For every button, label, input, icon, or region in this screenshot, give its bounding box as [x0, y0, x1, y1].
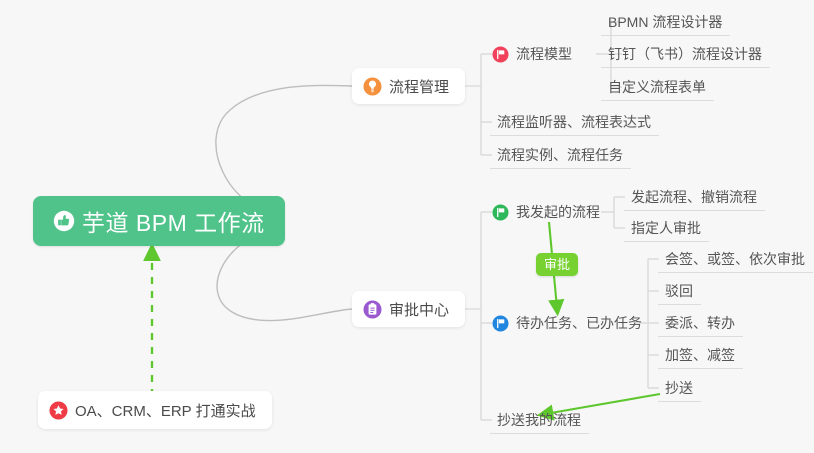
leaf-reject[interactable]: 驳回	[658, 279, 701, 305]
leaf-label-cc: 抄送	[665, 378, 693, 398]
flag-icon	[492, 46, 509, 63]
branch-node-process-management[interactable]: 流程管理	[352, 68, 465, 104]
leaf-label-assignee-approve: 指定人审批	[631, 218, 701, 238]
leaf-listener-expression[interactable]: 流程监听器、流程表达式	[490, 110, 659, 136]
thumbs-up-icon	[53, 210, 75, 232]
leaf-instance-task[interactable]: 流程实例、流程任务	[490, 143, 631, 169]
root-node-label: 芋道 BPM 工作流	[82, 204, 265, 238]
leaf-countersign[interactable]: 会签、或签、依次审批	[658, 247, 813, 273]
branch-node-approval-center[interactable]: 审批中心	[352, 291, 465, 327]
leaf-label-bpmn-designer: BPMN 流程设计器	[608, 12, 722, 32]
node-todo-done-tasks[interactable]: 待办任务、已办任务	[492, 310, 648, 336]
branch-label-process-management: 流程管理	[389, 76, 449, 97]
leaf-bpmn-designer[interactable]: BPMN 流程设计器	[601, 10, 730, 36]
node-flow-model[interactable]: 流程模型	[492, 41, 578, 67]
node-label-flow-model: 流程模型	[516, 44, 572, 64]
flag-icon	[492, 315, 509, 332]
branch-label-approval-center: 审批中心	[389, 299, 449, 320]
node-label-my-initiated-flow: 我发起的流程	[516, 202, 600, 222]
leaf-label-cc-my-flow: 抄送我的流程	[497, 410, 581, 430]
callout-node-integration[interactable]: OA、CRM、ERP 打通实战	[38, 391, 272, 429]
leaf-cc[interactable]: 抄送	[658, 376, 701, 402]
leaf-add-remove-sign[interactable]: 加签、减签	[658, 343, 743, 369]
leaf-assignee-approve[interactable]: 指定人审批	[624, 216, 709, 242]
leaf-label-custom-form: 自定义流程表单	[608, 77, 706, 97]
leaf-label-countersign: 会签、或签、依次审批	[665, 249, 805, 269]
node-my-initiated-flow[interactable]: 我发起的流程	[492, 199, 606, 225]
leaf-label-delegate-transfer: 委派、转办	[665, 313, 735, 333]
node-label-todo-done-tasks: 待办任务、已办任务	[516, 313, 642, 333]
root-node[interactable]: 芋道 BPM 工作流	[33, 196, 285, 246]
leaf-label-reject: 驳回	[665, 281, 693, 301]
leaf-dingtalk-designer[interactable]: 钉钉（飞书）流程设计器	[601, 42, 770, 68]
annotation-badge-approval-label: 审批	[544, 257, 570, 272]
edge-root-to-process-management	[216, 85, 352, 213]
leaf-label-add-remove-sign: 加签、减签	[665, 345, 735, 365]
leaf-custom-form[interactable]: 自定义流程表单	[601, 75, 714, 101]
mindmap-canvas: 芋道 BPM 工作流 流程管理 流程模型 BPMN 流程设计器 钉钉（飞书	[0, 0, 814, 453]
leaf-label-dingtalk-designer: 钉钉（飞书）流程设计器	[608, 44, 762, 64]
leaf-label-start-cancel-flow: 发起流程、撤销流程	[631, 187, 757, 207]
flag-icon	[492, 204, 509, 221]
lightbulb-icon	[363, 77, 382, 96]
callout-label-integration: OA、CRM、ERP 打通实战	[75, 400, 256, 421]
clipboard-icon	[363, 300, 382, 319]
leaf-start-cancel-flow[interactable]: 发起流程、撤销流程	[624, 185, 765, 211]
star-icon	[49, 401, 68, 420]
annotation-badge-approval: 审批	[536, 253, 578, 276]
leaf-cc-my-flow[interactable]: 抄送我的流程	[490, 408, 589, 434]
leaf-label-listener-expression: 流程监听器、流程表达式	[497, 112, 651, 132]
leaf-label-instance-task: 流程实例、流程任务	[497, 145, 623, 165]
leaf-delegate-transfer[interactable]: 委派、转办	[658, 311, 743, 337]
